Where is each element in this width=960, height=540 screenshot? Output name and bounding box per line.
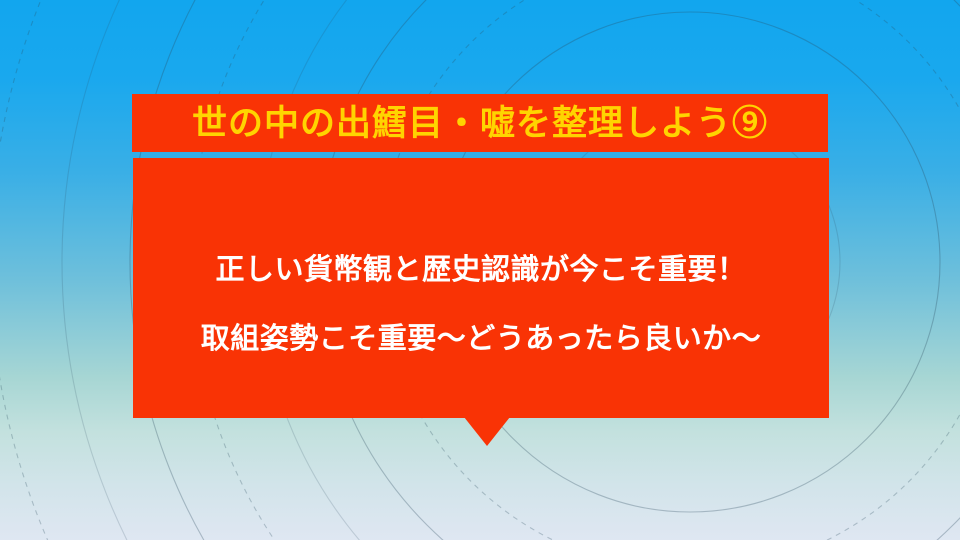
callout-line-1: 正しい貨幣観と歴史認識が今こそ重要！ [215, 254, 746, 287]
slide-title-bar: 世の中の出鱈目・嘘を整理しよう⑨ [132, 94, 828, 152]
callout-box: 正しい貨幣観と歴史認識が今こそ重要！ 取組姿勢こそ重要～どうあったら良いか～ [133, 158, 829, 418]
callout-tail-icon [464, 417, 510, 446]
callout-text-group: 正しい貨幣観と歴史認識が今こそ重要！ 取組姿勢こそ重要～どうあったら良いか～ [133, 254, 829, 357]
callout-line-2: 取組姿勢こそ重要～どうあったら良いか～ [201, 323, 762, 356]
page-title: 世の中の出鱈目・嘘を整理しよう⑨ [192, 106, 768, 141]
slide-canvas: 世の中の出鱈目・嘘を整理しよう⑨ 正しい貨幣観と歴史認識が今こそ重要！ 取組姿勢… [0, 0, 960, 540]
